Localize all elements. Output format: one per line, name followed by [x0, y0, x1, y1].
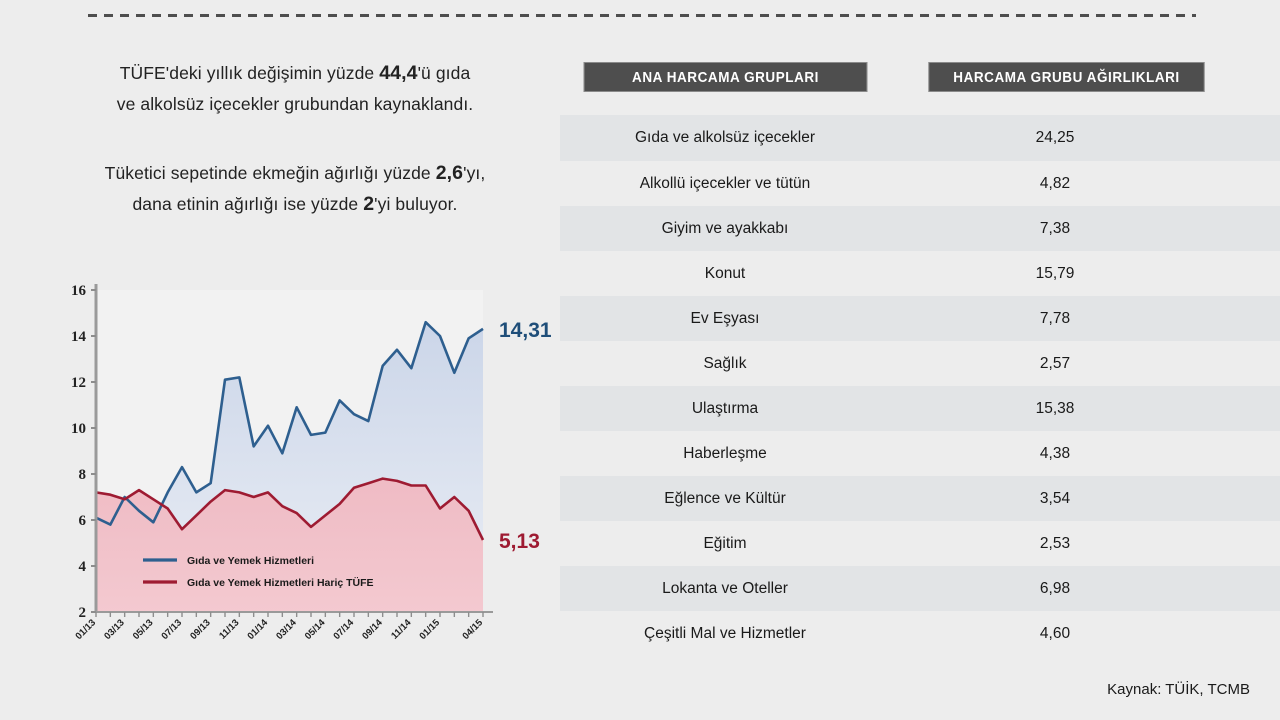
x-tick-label: 09/14 [360, 617, 385, 642]
table-cell-group-name: Eğitim [560, 535, 890, 553]
table-row: Çeşitli Mal ve Hizmetler4,60 [560, 611, 1280, 656]
inflation-line-chart: 24681012141601/1303/1305/1307/1309/1311/… [48, 272, 568, 672]
table-cell-group-name: Ev Eşyası [560, 310, 890, 328]
end-label-food-services: 14,31 [499, 319, 552, 342]
table-cell-group-name: Konut [560, 265, 890, 283]
table-header-weights: HARCAMA GRUBU AĞIRLIKLARI [928, 62, 1204, 92]
table-cell-group-name: Gıda ve alkolsüz içecekler [560, 129, 890, 147]
y-tick-label: 12 [71, 375, 86, 391]
expenditure-groups-table: ANA HARCAMA GRUPLARI HARCAMA GRUBU AĞIRL… [560, 0, 1280, 720]
svg-text:03/13: 03/13 [102, 617, 127, 642]
x-tick-label: 07/14 [332, 617, 357, 642]
x-tick-label: 11/13 [217, 617, 241, 641]
left-column: TÜFE'deki yıllık değişimin yüzde 44,4'ü … [0, 0, 560, 720]
svg-text:04/15: 04/15 [461, 617, 486, 642]
y-tick-label: 6 [79, 513, 87, 529]
x-tick-label: 09/13 [188, 617, 213, 642]
table-row: Gıda ve alkolsüz içecekler24,25 [560, 115, 1280, 161]
table-row: Eğitim2,53 [560, 521, 1280, 566]
table-cell-group-name: Haberleşme [560, 445, 890, 463]
blurb2-pre: Tüketici sepetinde ekmeğin ağırlığı yüzd… [105, 163, 436, 183]
blurb1-line2: ve alkolsüz içecekler grubundan kaynakla… [117, 94, 474, 114]
svg-text:09/14: 09/14 [360, 617, 385, 642]
y-tick-label: 14 [71, 329, 87, 345]
x-tick-label: 05/13 [131, 617, 156, 642]
x-tick-label: 04/15 [461, 617, 486, 642]
table-cell-group-name: Alkollü içecekler ve tütün [560, 175, 890, 193]
blurb2-line2-pre: dana etinin ağırlığı ise yüzde [132, 194, 363, 214]
table-row: Ulaştırma15,38 [560, 386, 1280, 431]
table-row: Eğlence ve Kültür3,54 [560, 476, 1280, 521]
blurb1-pre: TÜFE'deki yıllık değişimin yüzde [120, 63, 380, 83]
table-cell-group-name: Çeşitli Mal ve Hizmetler [560, 625, 890, 643]
table-header-groups: ANA HARCAMA GRUPLARI [584, 62, 868, 92]
end-label-excl-food-services: 5,13 [499, 530, 540, 553]
table-row: Lokanta ve Oteller6,98 [560, 566, 1280, 611]
table-row: Konut15,79 [560, 251, 1280, 296]
table-cell-weight-value: 15,79 [890, 265, 1220, 283]
svg-text:03/14: 03/14 [274, 617, 299, 642]
x-tick-label: 07/13 [160, 617, 185, 642]
svg-text:09/13: 09/13 [188, 617, 213, 642]
x-tick-label: 01/13 [74, 617, 99, 642]
headline-paragraph-1: TÜFE'deki yıllık değişimin yüzde 44,4'ü … [60, 58, 530, 120]
y-tick-label: 8 [79, 467, 87, 483]
blurb2-line2-bold: 2 [363, 193, 374, 215]
y-tick-label: 10 [71, 421, 86, 437]
blurb1-post: 'ü gıda [418, 63, 471, 83]
table-row: Alkollü içecekler ve tütün4,82 [560, 161, 1280, 206]
table-body: Gıda ve alkolsüz içecekler24,25Alkollü i… [560, 115, 1280, 656]
svg-text:01/13: 01/13 [74, 617, 99, 642]
x-tick-label: 03/13 [102, 617, 127, 642]
headline-paragraph-2: Tüketici sepetinde ekmeğin ağırlığı yüzd… [60, 158, 530, 220]
blurb2-line2-post: 'yi buluyor. [374, 194, 457, 214]
table-cell-weight-value: 7,38 [890, 220, 1220, 238]
table-cell-weight-value: 15,38 [890, 400, 1220, 418]
table-cell-weight-value: 2,53 [890, 535, 1220, 553]
table-row: Giyim ve ayakkabı7,38 [560, 206, 1280, 251]
blurb2-bold: 2,6 [436, 162, 463, 184]
table-cell-weight-value: 4,60 [890, 625, 1220, 643]
svg-text:11/14: 11/14 [389, 617, 414, 642]
table-cell-weight-value: 4,82 [890, 175, 1220, 193]
table-cell-group-name: Lokanta ve Oteller [560, 580, 890, 598]
table-cell-group-name: Eğlence ve Kültür [560, 490, 890, 508]
y-tick-label: 2 [79, 605, 87, 621]
x-tick-label: 01/15 [418, 617, 443, 642]
chart-canvas: 24681012141601/1303/1305/1307/1309/1311/… [48, 272, 568, 672]
source-note: Kaynak: TÜİK, TCMB [1107, 681, 1250, 698]
legend-label-food-services: Gıda ve Yemek Hizmetleri [187, 555, 314, 567]
svg-text:07/14: 07/14 [332, 617, 357, 642]
svg-text:01/15: 01/15 [418, 617, 443, 642]
legend-label-excl-food-services: Gıda ve Yemek Hizmetleri Hariç TÜFE [187, 576, 374, 589]
table-header-row: ANA HARCAMA GRUPLARI HARCAMA GRUBU AĞIRL… [560, 58, 1280, 98]
table-row: Sağlık2,57 [560, 341, 1280, 386]
svg-text:01/14: 01/14 [246, 617, 271, 642]
table-cell-weight-value: 7,78 [890, 310, 1220, 328]
svg-text:05/13: 05/13 [131, 617, 156, 642]
y-tick-label: 16 [71, 283, 87, 299]
x-tick-label: 05/14 [303, 617, 328, 642]
table-cell-weight-value: 4,38 [890, 445, 1220, 463]
table-row: Haberleşme4,38 [560, 431, 1280, 476]
table-cell-weight-value: 2,57 [890, 355, 1220, 373]
table-cell-weight-value: 24,25 [890, 129, 1220, 147]
x-tick-label: 11/14 [389, 617, 414, 642]
table-cell-weight-value: 3,54 [890, 490, 1220, 508]
svg-text:05/14: 05/14 [303, 617, 328, 642]
svg-text:11/13: 11/13 [217, 617, 241, 641]
table-cell-group-name: Ulaştırma [560, 400, 890, 418]
table-cell-group-name: Giyim ve ayakkabı [560, 220, 890, 238]
table-row: Ev Eşyası7,78 [560, 296, 1280, 341]
x-tick-label: 01/14 [246, 617, 271, 642]
x-tick-label: 03/14 [274, 617, 299, 642]
svg-text:07/13: 07/13 [160, 617, 185, 642]
y-tick-label: 4 [79, 559, 87, 575]
table-cell-weight-value: 6,98 [890, 580, 1220, 598]
blurb1-bold: 44,4 [379, 62, 417, 84]
blurb2-post: 'yı, [463, 163, 485, 183]
table-cell-group-name: Sağlık [560, 355, 890, 373]
